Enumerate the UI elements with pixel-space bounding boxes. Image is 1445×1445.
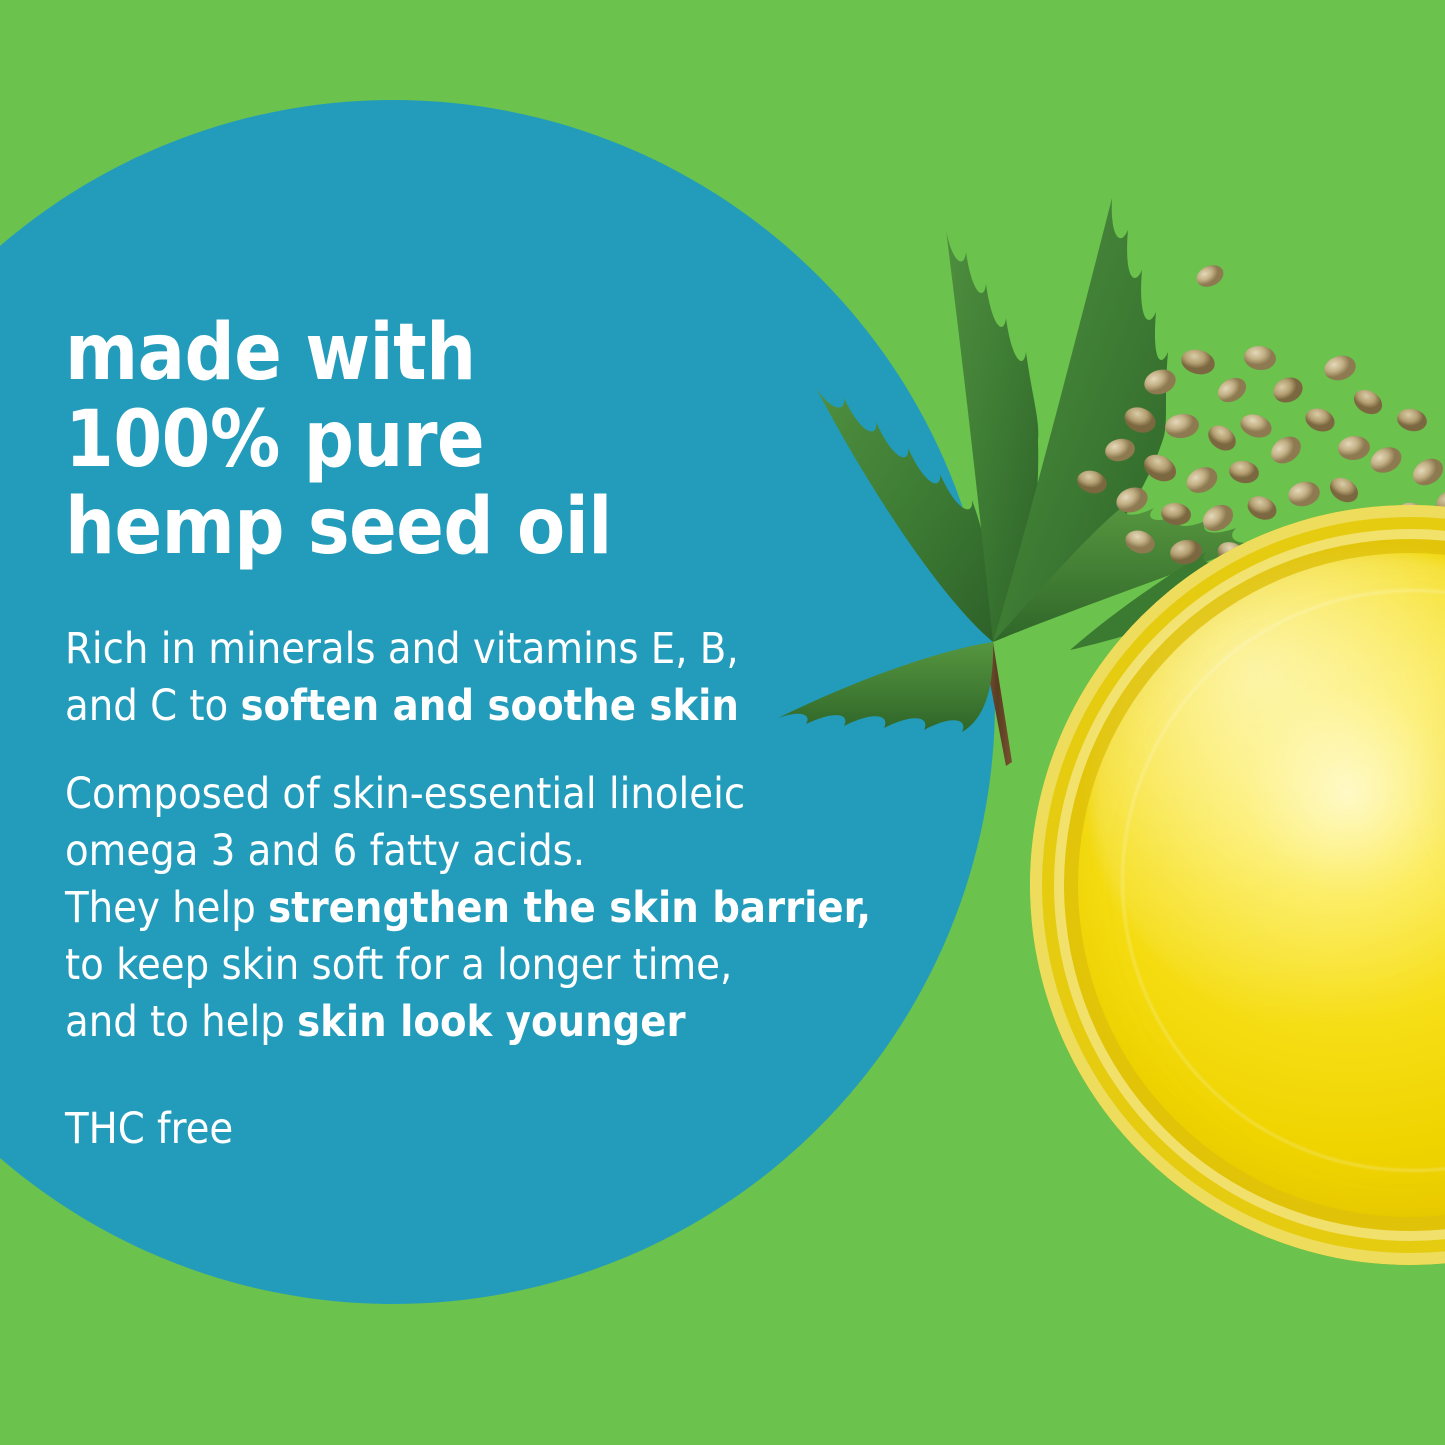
p2-line-2: omega 3 and 6 fatty acids.	[65, 823, 945, 880]
benefit-paragraph-vitamins: Rich in minerals and vitamins E, B, and …	[65, 621, 945, 735]
headline-line-1: made with	[65, 310, 765, 397]
headline-line-3: hemp seed oil	[65, 484, 765, 571]
p1-line-1: Rich in minerals and vitamins E, B,	[65, 621, 945, 678]
p1-line-2-plain: and C to	[65, 681, 241, 731]
promo-graphic: made with 100% pure hemp seed oil Rich i…	[0, 0, 1445, 1445]
p2-line-4: to keep skin soft for a longer time,	[65, 937, 945, 994]
p1-line-2-bold: soften and soothe skin	[241, 681, 739, 731]
p2-line-3-bold: strengthen the skin barrier,	[268, 883, 871, 933]
benefit-paragraph-fatty-acids: Composed of skin-essential linoleic omeg…	[65, 766, 945, 1051]
p2-line-3-plain: They help	[65, 883, 268, 933]
p2-line-5-plain: and to help	[65, 997, 297, 1047]
p2-line-3: They help strengthen the skin barrier,	[65, 880, 945, 937]
thc-free-paragraph: THC free	[65, 1101, 945, 1158]
p2-line-5-bold: skin look younger	[297, 997, 686, 1047]
p2-line-5: and to help skin look younger	[65, 994, 945, 1051]
headline: made with 100% pure hemp seed oil	[65, 310, 765, 571]
p3-line-1: THC free	[65, 1101, 945, 1158]
p1-line-2: and C to soften and soothe skin	[65, 678, 945, 735]
headline-line-2: 100% pure	[65, 397, 765, 484]
p2-line-1: Composed of skin-essential linoleic	[65, 766, 945, 823]
